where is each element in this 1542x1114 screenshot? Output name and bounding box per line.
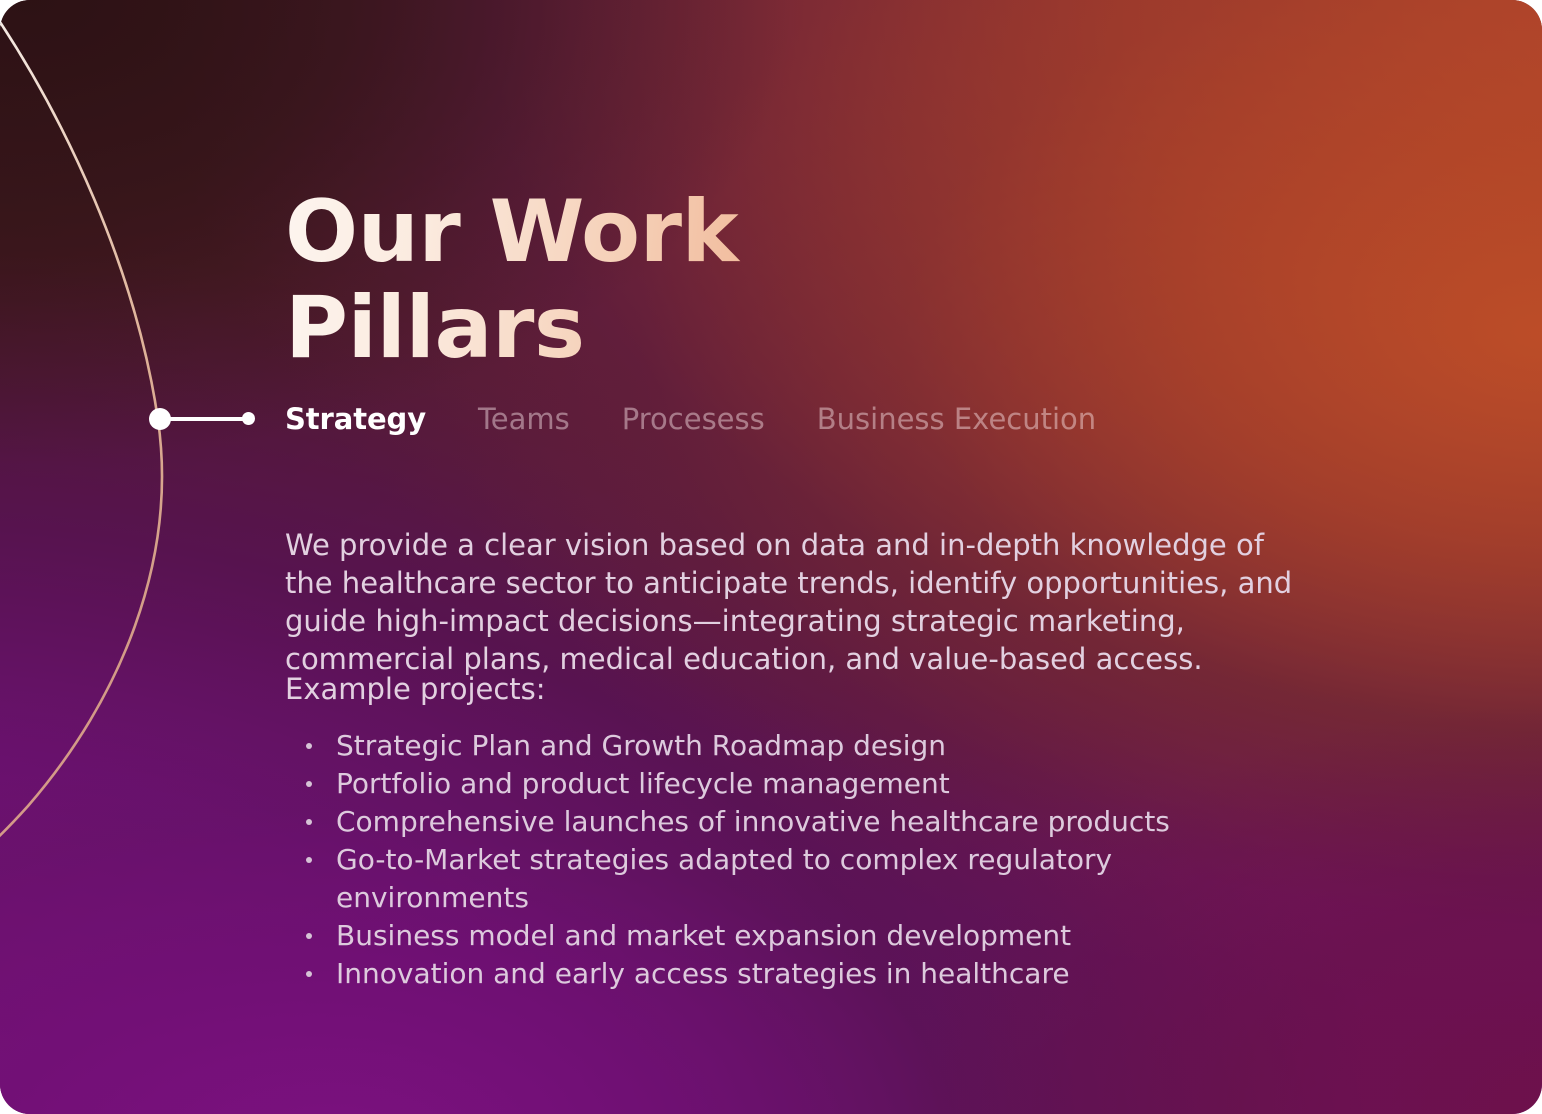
bullet-dot-icon: [306, 743, 312, 749]
tab-teams[interactable]: Teams: [478, 399, 570, 439]
bullet-dot-icon: [306, 819, 312, 825]
list-item: Strategic Plan and Growth Roadmap design: [300, 727, 1260, 765]
timeline-node-endpoint[interactable]: [242, 412, 255, 425]
list-item: Go-to-Market strategies adapted to compl…: [300, 841, 1260, 917]
example-projects-list: Strategic Plan and Growth Roadmap design…: [300, 727, 1260, 993]
tab-strategy[interactable]: Strategy: [285, 399, 426, 439]
page-title: Our Work Pillars: [285, 184, 1185, 376]
timeline-connector-line: [168, 417, 250, 421]
slide-content: Our Work Pillars Strategy Teams Proceses…: [0, 0, 1542, 1114]
list-item-label: Innovation and early access strategies i…: [336, 957, 1070, 990]
list-item-label: Go-to-Market strategies adapted to compl…: [336, 843, 1112, 914]
list-item-label: Comprehensive launches of innovative hea…: [336, 805, 1170, 838]
list-item: Business model and market expansion deve…: [300, 917, 1260, 955]
pillar-tabs: Strategy Teams Procesess Business Execut…: [285, 399, 1096, 439]
list-item: Comprehensive launches of innovative hea…: [300, 803, 1260, 841]
bullet-dot-icon: [306, 933, 312, 939]
tab-business-execution[interactable]: Business Execution: [817, 399, 1096, 439]
bullet-dot-icon: [306, 781, 312, 787]
bullet-dot-icon: [306, 971, 312, 977]
list-item: Portfolio and product lifecycle manageme…: [300, 765, 1260, 803]
pillar-description: We provide a clear vision based on data …: [285, 526, 1295, 678]
list-item-label: Business model and market expansion deve…: [336, 919, 1071, 952]
bullet-dot-icon: [306, 857, 312, 863]
list-item-label: Strategic Plan and Growth Roadmap design: [336, 729, 946, 762]
slide-canvas: Our Work Pillars Strategy Teams Proceses…: [0, 0, 1542, 1114]
list-item-label: Portfolio and product lifecycle manageme…: [336, 767, 950, 800]
tab-procesess[interactable]: Procesess: [622, 399, 765, 439]
example-projects-label: Example projects:: [285, 670, 546, 708]
list-item: Innovation and early access strategies i…: [300, 955, 1260, 993]
